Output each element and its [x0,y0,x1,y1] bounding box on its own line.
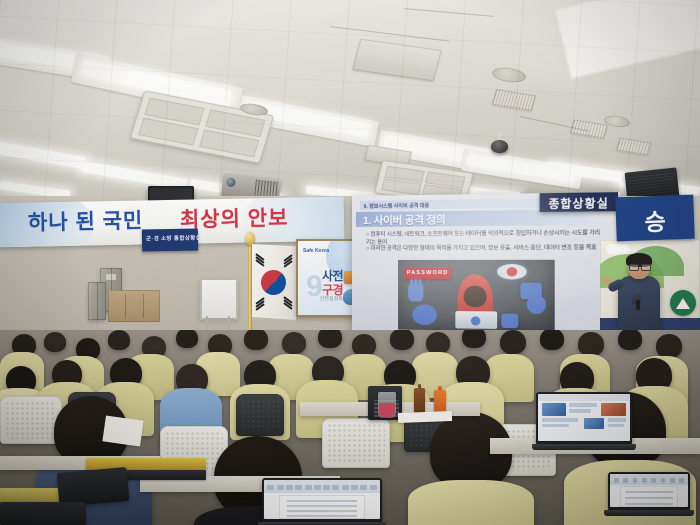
app-ribbon-toolbar [264,480,380,493]
ceiling-wire [330,26,449,42]
audience-area [0,330,700,525]
laptop-screen-document[interactable] [264,480,380,519]
portal-text-line [608,424,625,427]
slide-title-bar: 1. 사이버 공격 정의 [356,209,589,227]
slide-illustration: PASSWORD [398,260,555,332]
camera-mount-stem [498,132,501,142]
light-fixture-frame [461,149,583,190]
attendee-head [108,330,130,350]
fluorescent-light-panel [0,39,102,73]
laptop-screen-portal[interactable] [538,394,630,441]
ceiling-edge-soffit [555,0,700,78]
laptop-side[interactable] [608,472,690,516]
ac-cassette-unit [130,90,274,163]
light-fixture-frame [377,130,499,174]
password-label-chip: PASSWORD [404,268,451,279]
whiteboard [200,278,238,320]
laptop-icon [455,311,497,329]
attendee-head [244,330,268,350]
browser-toolbar [538,394,630,401]
projection-screen: Ⅱ. 정보시스템 사이버 공격 대응 1. 사이버 공격 정의 종합상황실 ○ … [352,192,620,337]
ac-diffuser-panel [352,39,442,82]
stacking-chair[interactable] [0,396,62,444]
situation-room-tag: 종합상황실 [540,192,618,212]
stacking-chair[interactable] [322,418,390,468]
slide-section-header-text: Ⅱ. 정보시스템 사이버 공격 대응 [364,201,429,209]
light-fixture-frame [237,95,379,147]
civil-defense-logo-icon [670,290,696,316]
attendee-head [618,330,642,350]
fluorescent-light-panel [620,177,700,196]
fluorescent-light-panel [80,59,232,106]
ac-vent-grill [616,138,651,156]
laptop-lid [262,478,382,522]
security-camera-dome[interactable] [491,140,508,153]
flag-finial-ornament [245,232,255,245]
banner-text-blue: 하나 된 국민 [28,206,144,238]
laptop-browser[interactable] [536,392,632,450]
portal-text-line [608,418,626,421]
slide-bullet: ○ 이러한 공격은 다양한 형태의 목적을 가지고 있으며, 정보 유출, 서비… [366,245,605,253]
situation-room-tag-label: 종합상황실 [540,194,618,212]
projector-lens [226,177,236,187]
laptop-lid [608,472,690,510]
poster-brand: Safe Korea [303,248,329,254]
portal-thumbnail [542,403,566,415]
laptop-lid [536,392,632,444]
whiteboard-leg [206,316,208,330]
fluorescent-light-panel [244,100,370,138]
attendee-head [282,332,306,354]
password-label-text: PASSWORD [404,270,451,276]
attendee-head [44,332,66,352]
situation-room-sign-label: 군·경 소방 통합상황실 [146,234,195,243]
situation-room-sign: 군·경 소방 통합상황실 [142,229,198,252]
attendee-head [540,330,564,350]
attendee-head [176,330,198,348]
eyeglasses-icon [629,264,649,269]
portal-text-line [542,418,579,421]
iced-drink-cup[interactable] [378,392,396,418]
whiteboard-leg [228,316,230,330]
laptop-base [604,510,694,516]
slide-title-text: 1. 사이버 공격 정의 [363,212,446,228]
slide-bullet-text: 이러한 공격은 다양한 형태의 목적을 가지고 있으며, 정보 유출, 서비스 … [370,245,596,252]
light-fixture-frame [0,34,111,82]
mural-cloud [606,244,630,254]
wooden-low-cabinet [108,290,160,322]
projector-mount [248,166,252,176]
laptop-screen-document[interactable] [610,474,688,507]
fluorescent-light-panel [0,139,85,169]
eye-icon [497,264,527,280]
laptop-bag[interactable] [57,467,130,507]
disc-icon [412,305,437,326]
ceiling [0,0,700,205]
ceiling-speaker [491,66,527,85]
portal-text-line [569,403,597,407]
app-ribbon-toolbar [610,474,688,485]
attendee-body-front [408,480,534,525]
laptop-document[interactable] [262,478,382,525]
photo-scene: 하나 된 국민 최상의 안보 군·경 소방 통합상황실 Safe Korea 9… [0,0,700,525]
portal-text-line [542,424,570,427]
attendee-head [578,332,604,356]
laptop-base [532,444,636,450]
office-chair[interactable] [236,394,284,436]
attendee-head [656,334,682,358]
printed-handouts[interactable] [102,415,143,446]
slide-section-header: Ⅱ. 정보시스템 사이버 공격 대응 [360,198,563,210]
light-fixture-frame [71,53,244,118]
microphone [636,297,640,310]
ac-vent-grill [570,120,607,139]
document-page [280,496,364,519]
taeguk-symbol [257,266,291,300]
projector-vent [254,179,278,197]
attendee-head [352,334,376,356]
ceiling-wire [404,8,494,17]
fluorescent-light-panel [548,161,645,185]
attendee-head [462,330,486,348]
ceiling-speaker [603,114,630,129]
shield-icon [501,314,518,329]
portal-text-line [569,409,591,413]
beverage-bottle[interactable] [414,388,425,414]
printed-handouts[interactable] [398,411,452,423]
hand-icon [408,284,423,301]
presenter-hand [603,277,611,285]
ac-vent-grill [492,89,536,111]
ceiling-speaker [239,102,268,118]
attendee-head [426,332,450,354]
attendee-head [500,330,526,354]
korean-national-flag [252,244,296,320]
ac-diffuser-panel [364,145,412,167]
fluorescent-light-panel [383,135,492,167]
ceiling-wire [520,116,589,132]
bomb-icon [527,295,546,314]
electrical-cabinet [88,282,106,320]
right-wall-banner: 승 [615,195,694,242]
document-page [621,487,677,506]
attendee-head [318,330,342,348]
fluorescent-light-panel [467,154,576,183]
slide-bullet-text: 컴퓨터 시스템, 네트워크, 소프트웨어 또는 데이터를 악의적으로 침입하거나… [366,230,600,245]
right-wall-banner-label: 승 [616,202,695,239]
wall-panel-seam [196,248,198,342]
portal-thumbnail [601,403,627,415]
portal-thumbnail [584,418,604,428]
flag-pole [248,238,252,343]
attendee-head [390,330,414,350]
laptop-bag[interactable] [0,502,86,525]
